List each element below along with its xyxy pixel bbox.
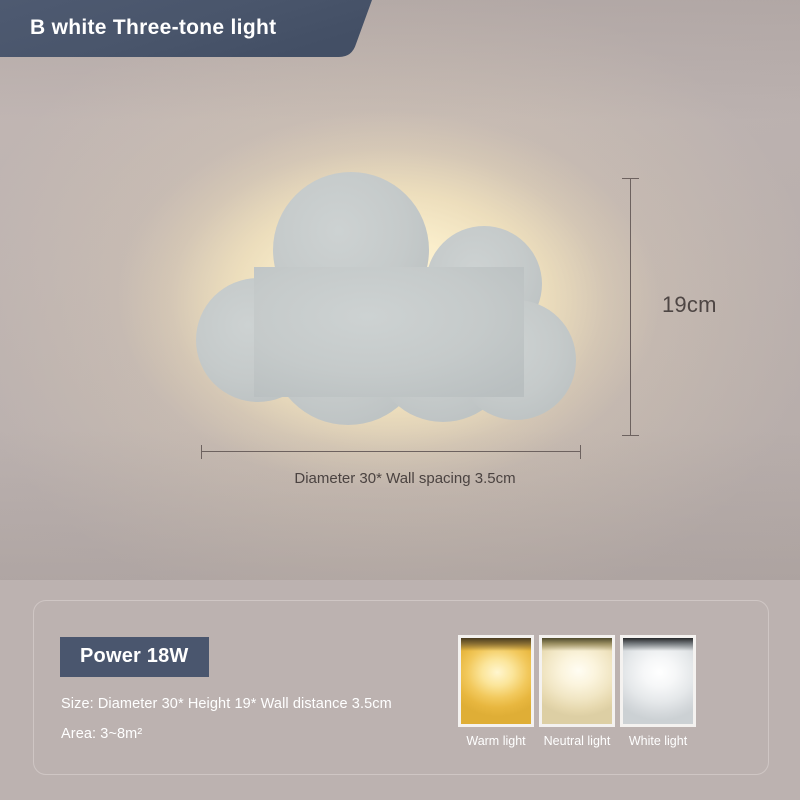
neutral-light-top-shade (542, 638, 612, 651)
cloud-silhouette (196, 172, 576, 425)
width-dimension-line (200, 444, 582, 460)
white-light-label: White light (620, 734, 696, 748)
width-dimension-tick-left (201, 445, 202, 459)
height-dimension-label: 19cm (662, 292, 717, 318)
specs-panel: Power 18W Size: Diameter 30* Height 19* … (33, 600, 769, 775)
width-dimension-bar (201, 451, 581, 452)
width-dimension-tick-right (580, 445, 581, 459)
neutral-light-label: Neutral light (539, 734, 615, 748)
width-dimension-label: Diameter 30* Wall spacing 3.5cm (284, 470, 515, 487)
height-dimension-tick-bottom (622, 435, 639, 436)
spec-text-block: Size: Diameter 30* Height 19* Wall dista… (61, 689, 392, 749)
tone-swatch-group: Warm light Neutral light White light (458, 635, 696, 748)
white-light-top-shade (623, 638, 693, 651)
neutral-light-chip[interactable] (539, 635, 615, 727)
warm-light-label: Warm light (458, 734, 534, 748)
spec-area-line: Area: 3~8m² (61, 719, 392, 749)
tone-swatch-neutral[interactable]: Neutral light (539, 635, 615, 748)
warm-light-chip[interactable] (458, 635, 534, 727)
height-dimension-tick-top (622, 178, 639, 179)
tone-swatch-warm[interactable]: Warm light (458, 635, 534, 748)
variant-title: B white Three-tone light (30, 0, 276, 56)
power-badge: Power 18W (60, 637, 209, 677)
product-image: B white Three-tone light 19cm Diameter 3… (0, 0, 800, 800)
height-dimension-line (622, 176, 640, 438)
lamp-scene (0, 0, 800, 580)
spec-size-line: Size: Diameter 30* Height 19* Wall dista… (61, 689, 392, 719)
variant-banner: B white Three-tone light (0, 0, 372, 62)
height-dimension-bar (630, 178, 631, 436)
warm-light-top-shade (461, 638, 531, 651)
width-dimension-label-wrap: Diameter 30* Wall spacing 3.5cm (0, 470, 800, 487)
cloud-lamp (196, 172, 586, 442)
tone-swatch-white[interactable]: White light (620, 635, 696, 748)
white-light-chip[interactable] (620, 635, 696, 727)
